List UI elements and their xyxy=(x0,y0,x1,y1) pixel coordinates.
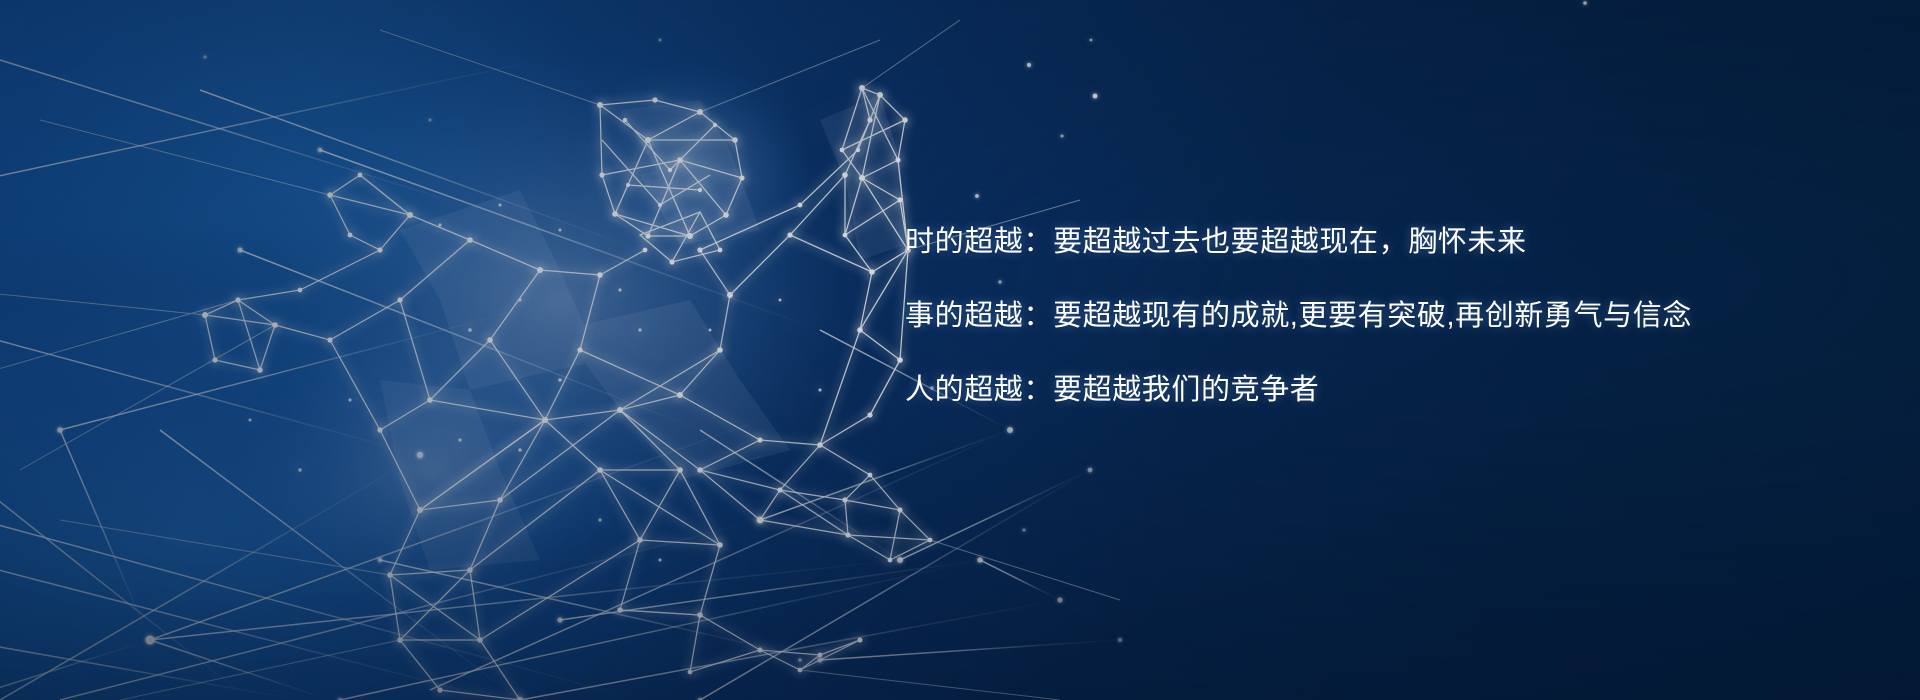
slogan-line-2: 事的超越：要超越现有的成就,更要有突破,再创新勇气与信念 xyxy=(905,302,1805,331)
hero-banner: 时的超越：要超越过去也要超越现在，胸怀未来 事的超越：要超越现有的成就,更要有突… xyxy=(0,0,1920,700)
slogan-line-3: 人的超越：要超越我们的竞争者 xyxy=(905,376,1805,405)
slogan-text-block: 时的超越：要超越过去也要超越现在，胸怀未来 事的超越：要超越现有的成就,更要有突… xyxy=(905,228,1805,405)
slogan-line-1: 时的超越：要超越过去也要超越现在，胸怀未来 xyxy=(905,228,1805,257)
